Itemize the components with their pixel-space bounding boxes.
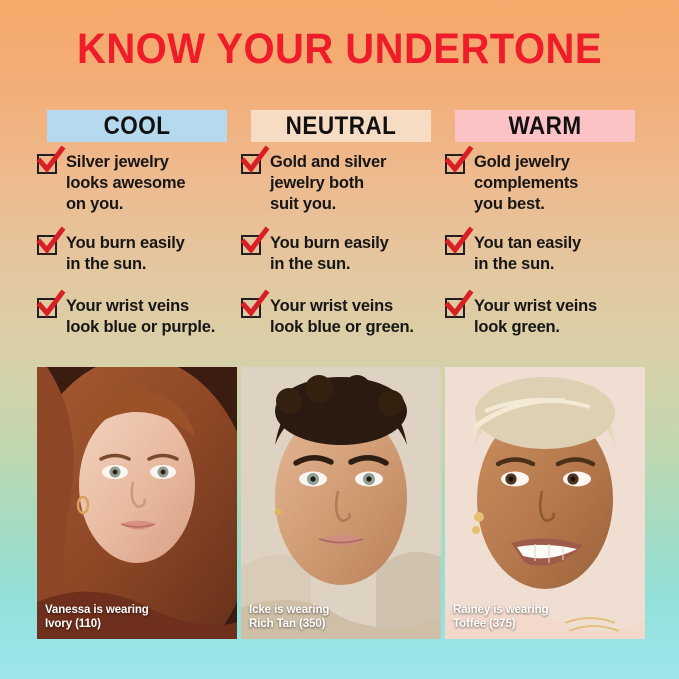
checklist-item: Your wrist veins look blue or green. bbox=[241, 296, 441, 340]
checklist-item-label: Your wrist veins look green. bbox=[474, 296, 597, 338]
checklist-grid: Silver jewelry looks awesome on you. You… bbox=[37, 152, 645, 359]
checklist-item-label: You burn easily in the sun. bbox=[270, 233, 389, 275]
checklist-item: Gold jewelry complements you best. bbox=[445, 152, 645, 214]
check-icon bbox=[445, 298, 465, 318]
undertone-infographic: KNOW YOUR UNDERTONE COOL NEUTRAL WARM Si… bbox=[0, 0, 679, 679]
photo-caption: Rainey is wearing Toffee (375) bbox=[453, 603, 548, 631]
checklist-column-cool: Silver jewelry looks awesome on you. You… bbox=[37, 152, 237, 359]
check-icon bbox=[445, 235, 465, 255]
checklist-item-label: Gold and silver jewelry both suit you. bbox=[270, 152, 386, 214]
checklist-item-label: Gold jewelry complements you best. bbox=[474, 152, 578, 214]
column-header-cool-label: COOL bbox=[104, 112, 171, 141]
check-icon bbox=[37, 298, 57, 318]
portrait-icke bbox=[241, 367, 441, 639]
portrait-vanessa bbox=[37, 367, 237, 639]
checklist-item: Silver jewelry looks awesome on you. bbox=[37, 152, 237, 214]
column-header-warm: WARM bbox=[455, 110, 635, 142]
checklist-column-neutral: Gold and silver jewelry both suit you. Y… bbox=[241, 152, 441, 359]
checklist-item-label: Silver jewelry looks awesome on you. bbox=[66, 152, 185, 214]
model-photo-cool: Vanessa is wearing Ivory (110) bbox=[37, 367, 237, 639]
column-header-cool: COOL bbox=[47, 110, 227, 142]
checklist-item: Gold and silver jewelry both suit you. bbox=[241, 152, 441, 214]
check-icon bbox=[445, 154, 465, 174]
checklist-item: You burn easily in the sun. bbox=[37, 233, 237, 277]
model-photo-warm: Rainey is wearing Toffee (375) bbox=[445, 367, 645, 639]
model-photos: Vanessa is wearing Ivory (110) bbox=[37, 367, 645, 639]
checklist-item-label: You burn easily in the sun. bbox=[66, 233, 185, 275]
model-photo-neutral: Icke is wearing Rich Tan (350) bbox=[241, 367, 441, 639]
checklist-item: You tan easily in the sun. bbox=[445, 233, 645, 277]
check-icon bbox=[241, 235, 261, 255]
check-icon bbox=[241, 154, 261, 174]
column-headers: COOL NEUTRAL WARM bbox=[37, 110, 645, 142]
checklist-item: Your wrist veins look blue or purple. bbox=[37, 296, 237, 340]
column-header-neutral-label: NEUTRAL bbox=[286, 112, 397, 141]
checklist-item-label: You tan easily in the sun. bbox=[474, 233, 581, 275]
photo-caption: Vanessa is wearing Ivory (110) bbox=[45, 603, 149, 631]
page-title: KNOW YOUR UNDERTONE bbox=[24, 28, 655, 71]
check-icon bbox=[37, 154, 57, 174]
portrait-rainey bbox=[445, 367, 645, 639]
checklist-item-label: Your wrist veins look blue or green. bbox=[270, 296, 414, 338]
check-icon bbox=[37, 235, 57, 255]
column-header-neutral: NEUTRAL bbox=[251, 110, 431, 142]
check-icon bbox=[241, 298, 261, 318]
checklist-column-warm: Gold jewelry complements you best. You t… bbox=[445, 152, 645, 359]
photo-caption: Icke is wearing Rich Tan (350) bbox=[249, 603, 329, 631]
checklist-item: Your wrist veins look green. bbox=[445, 296, 645, 340]
checklist-item-label: Your wrist veins look blue or purple. bbox=[66, 296, 215, 338]
checklist-item: You burn easily in the sun. bbox=[241, 233, 441, 277]
column-header-warm-label: WARM bbox=[508, 112, 581, 141]
